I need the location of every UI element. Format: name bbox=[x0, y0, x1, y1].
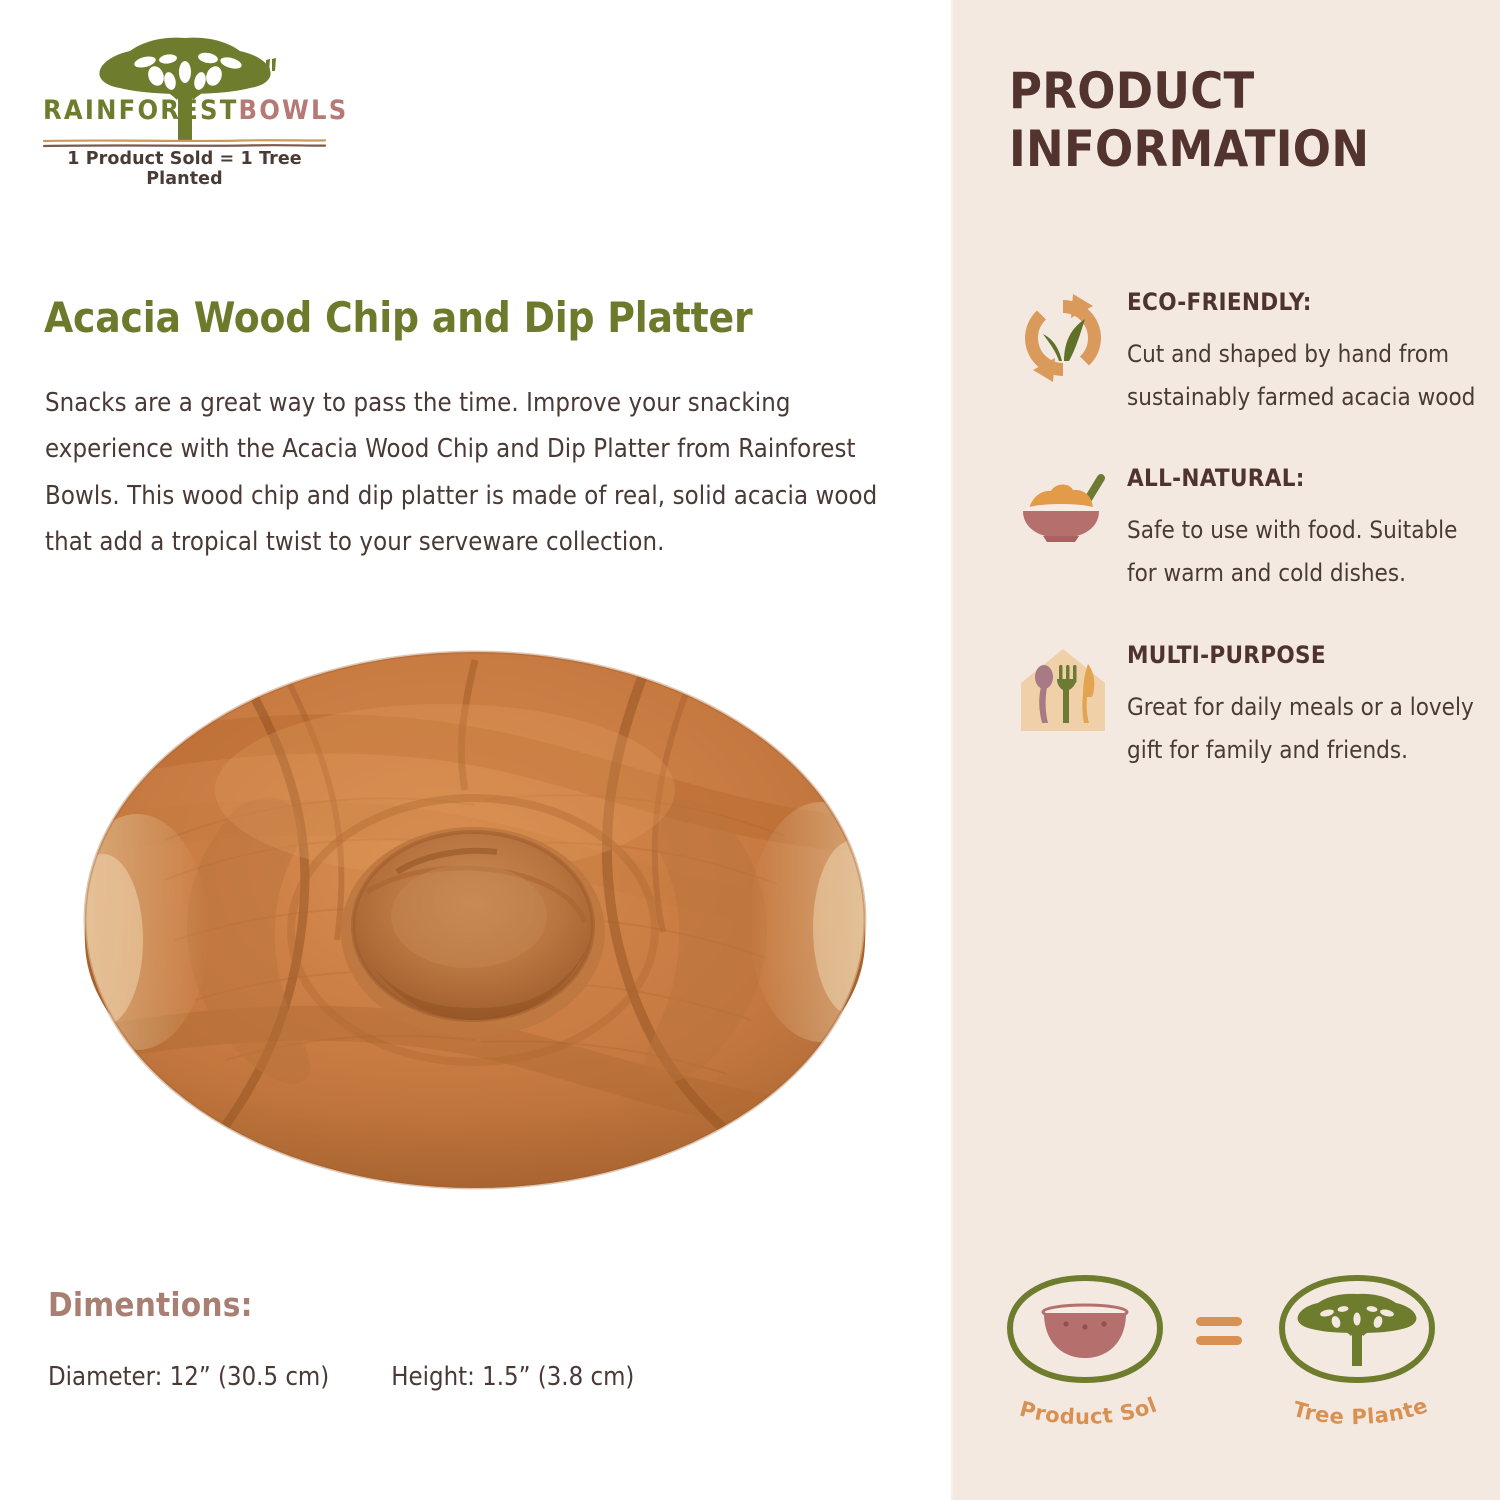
feature-text-all-natural: ALL-NATURAL: Safe to use with food. Suit… bbox=[1119, 464, 1477, 594]
dimension-height: Height: 1.5” (3.8 cm) bbox=[391, 1362, 634, 1392]
feature-list: ECO-FRIENDLY: Cut and shaped by hand fro… bbox=[1007, 288, 1477, 817]
right-panel: PRODUCT INFORMATION bbox=[952, 0, 1500, 1500]
logo-tagline: 1 Product Sold = 1 Tree Planted bbox=[42, 149, 327, 189]
feature-body-multi-purpose: Great for daily meals or a lovely gift f… bbox=[1127, 686, 1477, 771]
feature-item-eco-friendly: ECO-FRIENDLY: Cut and shaped by hand fro… bbox=[1007, 288, 1477, 418]
dimensions-heading: Dimentions: bbox=[48, 1285, 848, 1324]
dimensions-block: Dimentions: Diameter: 12” (30.5 cm) Heig… bbox=[48, 1285, 848, 1392]
logo-word-rainforest: RAINFOREST bbox=[42, 97, 238, 124]
logo-word-bowls: BOWLS bbox=[238, 97, 349, 124]
panel-heading-line-2: INFORMATION bbox=[1009, 120, 1489, 178]
bowl-with-spoon-icon bbox=[1007, 464, 1119, 548]
feature-text-eco-friendly: ECO-FRIENDLY: Cut and shaped by hand fro… bbox=[1119, 288, 1477, 418]
acacia-tree-outline-icon bbox=[1282, 1278, 1432, 1380]
left-panel: RAINFOREST BOWLS 1 Product Sold = 1 Tree… bbox=[0, 0, 952, 1500]
recycle-leaf-icon bbox=[1007, 288, 1119, 384]
equals-icon bbox=[1196, 1317, 1242, 1345]
dimensions-values: Diameter: 12” (30.5 cm) Height: 1.5” (3.… bbox=[48, 1362, 848, 1392]
feature-label-all-natural: ALL-NATURAL: bbox=[1127, 464, 1477, 492]
bowl-outline-icon bbox=[1010, 1278, 1160, 1380]
feature-body-eco-friendly: Cut and shaped by hand from sustainably … bbox=[1127, 333, 1477, 418]
feature-body-all-natural: Safe to use with food. Suitable for warm… bbox=[1127, 509, 1477, 594]
logo-divider-rules bbox=[42, 135, 327, 145]
product-description: Snacks are a great way to pass the time.… bbox=[45, 380, 890, 566]
dimension-diameter: Diameter: 12” (30.5 cm) bbox=[48, 1362, 329, 1392]
feature-label-multi-purpose: MULTI-PURPOSE bbox=[1127, 641, 1477, 669]
house-cutlery-icon bbox=[1007, 641, 1119, 737]
feature-item-multi-purpose: MULTI-PURPOSE Great for daily meals or a… bbox=[1007, 641, 1477, 771]
product-information-infographic: RAINFOREST BOWLS 1 Product Sold = 1 Tree… bbox=[0, 0, 1500, 1500]
product-photo bbox=[45, 640, 905, 1220]
brand-logo: RAINFOREST BOWLS 1 Product Sold = 1 Tree… bbox=[42, 32, 327, 189]
page-title: Acacia Wood Chip and Dip Platter bbox=[44, 295, 904, 341]
panel-heading-line-1: PRODUCT bbox=[1009, 62, 1489, 120]
feature-label-eco-friendly: ECO-FRIENDLY: bbox=[1127, 288, 1477, 316]
panel-heading: PRODUCT INFORMATION bbox=[1009, 62, 1489, 178]
logo-wordmark: RAINFOREST BOWLS bbox=[42, 78, 327, 124]
feature-text-multi-purpose: MULTI-PURPOSE Great for daily meals or a… bbox=[1119, 641, 1477, 771]
feature-item-all-natural: ALL-NATURAL: Safe to use with food. Suit… bbox=[1007, 464, 1477, 594]
eco-pledge-badge: 1 Product Sold 1 Tree Planted bbox=[988, 1272, 1466, 1452]
panel-divider bbox=[951, 0, 953, 1500]
